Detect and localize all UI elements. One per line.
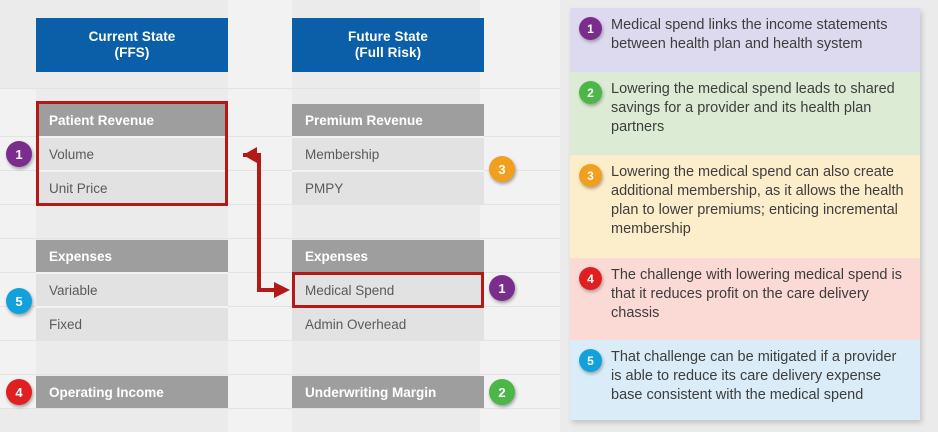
background-rowline [0,374,560,375]
note-badge-number: 2 [587,86,594,100]
row-membership[interactable]: Membership [292,138,484,170]
row-label: Variable [49,283,98,298]
row-expenses-future[interactable]: Expenses [292,240,484,272]
note-badge-number: 3 [587,169,594,183]
background-rowline [0,340,560,341]
badge-number: 5 [15,294,22,309]
row-label: Premium Revenue [305,113,423,128]
row-label: Operating Income [49,385,164,400]
column-header-line1: Future State [348,29,428,45]
badge-number: 1 [15,147,22,162]
background-band-middle [228,0,292,432]
row-volume[interactable]: Volume [36,138,228,170]
row-underwriting-margin[interactable]: Underwriting Margin [292,376,484,408]
row-admin-overhead[interactable]: Admin Overhead [292,308,484,340]
row-unit-price[interactable]: Unit Price [36,172,228,204]
note-text-1: Medical spend links the income statement… [611,16,910,54]
note-text-3: Lowering the medical spend can also crea… [611,163,910,239]
note-item-5[interactable]: 5 That challenge can be mitigated if a p… [570,340,920,420]
note-badge-3: 3 [579,164,602,187]
note-item-1[interactable]: 1 Medical spend links the income stateme… [570,8,920,72]
note-badge-number: 5 [587,354,594,368]
row-fixed[interactable]: Fixed [36,308,228,340]
background-rowline [0,88,560,89]
row-label: Admin Overhead [305,317,406,332]
background-band-topleft [0,0,36,88]
row-label: Volume [49,147,94,162]
note-badge-number: 4 [587,272,594,286]
background-band-right [480,0,560,432]
row-label: PMPY [305,181,343,196]
badge-1-right[interactable]: 1 [489,275,515,301]
background-rowline [0,238,560,239]
note-item-4[interactable]: 4 The challenge with lowering medical sp… [570,258,920,340]
row-medical-spend[interactable]: Medical Spend [292,274,484,306]
badge-1-left[interactable]: 1 [6,141,32,167]
note-badge-1: 1 [579,17,602,40]
note-text-2: Lowering the medical spend leads to shar… [611,80,910,137]
column-header-line2: (Full Risk) [355,45,421,61]
diagram-canvas: Current State (FFS) Patient Revenue Volu… [0,0,938,432]
badge-4-left[interactable]: 4 [6,379,32,405]
note-badge-number: 1 [587,22,594,36]
note-badge-4: 4 [579,267,602,290]
note-badge-2: 2 [579,81,602,104]
row-patient-revenue[interactable]: Patient Revenue [36,104,228,136]
row-label: Membership [305,147,379,162]
row-pmpy[interactable]: PMPY [292,172,484,204]
badge-2-right[interactable]: 2 [489,379,515,405]
row-premium-revenue[interactable]: Premium Revenue [292,104,484,136]
column-header-current-state: Current State (FFS) [36,18,228,72]
column-header-line1: Current State [89,29,176,45]
note-item-2[interactable]: 2 Lowering the medical spend leads to sh… [570,72,920,155]
row-label: Patient Revenue [49,113,154,128]
background-rowline [0,408,560,409]
row-expenses-current[interactable]: Expenses [36,240,228,272]
badge-number: 1 [498,281,505,296]
row-label: Medical Spend [305,283,394,298]
background-rowline [0,204,560,205]
badge-number: 3 [498,162,505,177]
row-operating-income[interactable]: Operating Income [36,376,228,408]
row-label: Expenses [49,249,112,264]
row-label: Fixed [49,317,82,332]
row-label: Unit Price [49,181,108,196]
column-header-future-state: Future State (Full Risk) [292,18,484,72]
badge-3-right[interactable]: 3 [489,156,515,182]
explanation-panel: 1 Medical spend links the income stateme… [570,8,920,420]
row-label: Underwriting Margin [305,385,436,400]
note-text-4: The challenge with lowering medical spen… [611,266,910,323]
badge-number: 4 [15,385,22,400]
column-header-line2: (FFS) [115,45,150,61]
note-item-3[interactable]: 3 Lowering the medical spend can also cr… [570,155,920,258]
note-text-5: That challenge can be mitigated if a pro… [611,348,910,405]
badge-number: 2 [498,385,505,400]
note-badge-5: 5 [579,349,602,372]
row-variable[interactable]: Variable [36,274,228,306]
row-label: Expenses [305,249,368,264]
badge-5-left[interactable]: 5 [6,288,32,314]
